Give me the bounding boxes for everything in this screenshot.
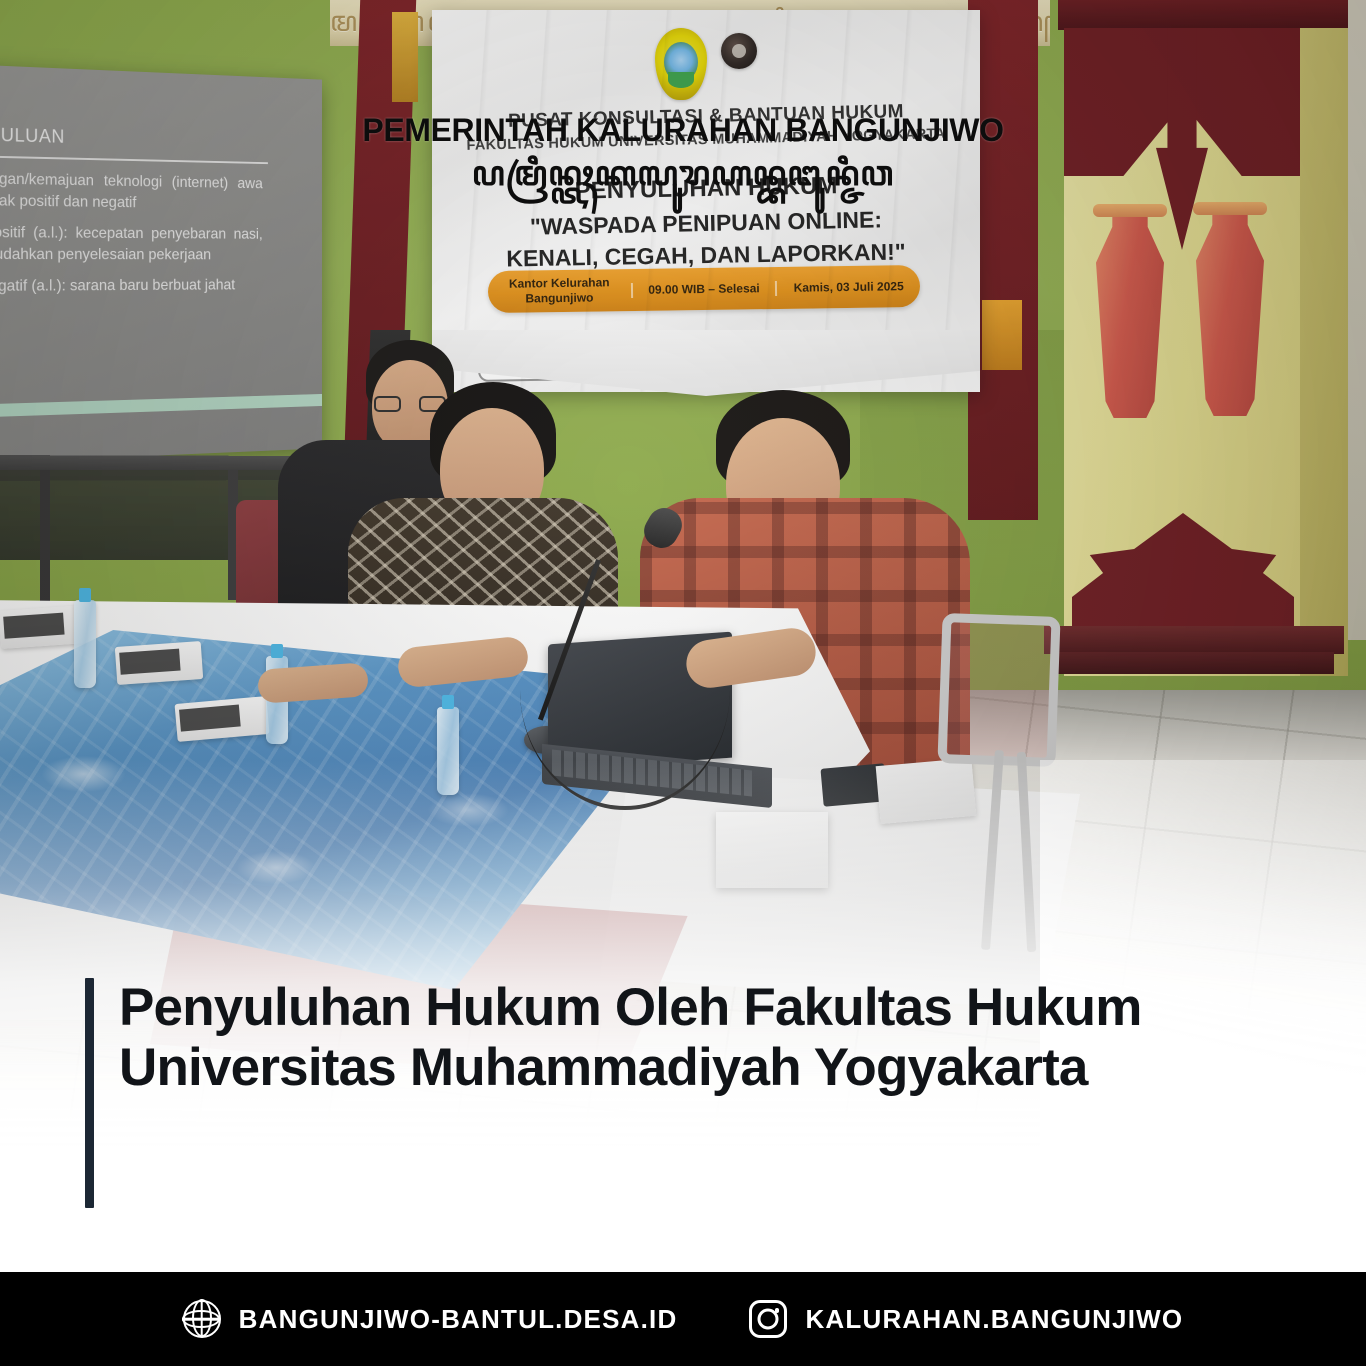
pillar-base-bottom: [1054, 652, 1334, 674]
footer-bar: BANGUNJIWO-BANTUL.DESA.ID KALURAHAN.BANG…: [0, 1272, 1366, 1366]
gold-accent-left: [392, 12, 418, 102]
umy-logo-icon: [721, 33, 757, 69]
globe-icon: [183, 1300, 221, 1338]
footer-website[interactable]: BANGUNJIWO-BANTUL.DESA.ID: [183, 1300, 678, 1338]
chair-right-backrest: [937, 613, 1060, 767]
overlay-kalurahan-text: PEMERINTAH KALURAHAN BANGUNJIWO: [0, 112, 1366, 149]
water-bottle-1: [74, 600, 96, 688]
ornamental-pillar: [1058, 0, 1348, 700]
pillar-base-top: [1044, 626, 1344, 654]
pillar-cap: [1058, 0, 1348, 30]
footer-instagram-label: KALURAHAN.BANGUNJIWO: [805, 1304, 1183, 1335]
title-accent-bar: [85, 978, 94, 1208]
slide-paragraph-3: ak negatif (a.l.): sarana baru berbuat j…: [0, 276, 263, 298]
snack-box-3: [175, 696, 270, 742]
glasses-icon: [374, 396, 446, 412]
instagram-icon: [749, 1300, 787, 1338]
banner-info-bar: Kantor Kelurahan Bangunjiwo 09.00 WIB – …: [488, 265, 921, 313]
slide-paragraph-2: ak positif (a.l.): kecepatan penyebaran …: [0, 222, 263, 265]
snack-box-2: [115, 641, 203, 685]
bantul-emblem-icon: [655, 28, 707, 100]
banner-info-time: 09.00 WIB – Selesai: [631, 281, 776, 298]
screen-leg-left: [40, 470, 50, 610]
overlay-javanese-text: ꦥꦩꦿꦶꦤ꧀ꦠꦃꦏꦭꦸꦫꦲꦤ꧀ꦧꦔꦸꦤ꧀ꦗꦶꦮ: [0, 148, 1366, 217]
slide-accent-band: [0, 394, 322, 418]
gold-accent-right: [982, 300, 1022, 370]
footer-website-label: BANGUNJIWO-BANTUL.DESA.ID: [239, 1304, 678, 1335]
banner-logos: [432, 28, 980, 100]
poster-canvas: ꦩꦤ꧀ꦝꦭꦱꦮ ꦏꦭꦸꦫꦲꦤ꧀ ꦧꦔꦸꦤ꧀ꦗꦶꦮ ꦏꦥꦤꦺꦮꦺꦴꦤ꧀ ꦏꦱꦶꦲꦤ…: [0, 0, 1366, 1366]
footer-instagram[interactable]: KALURAHAN.BANGUNJIWO: [749, 1300, 1183, 1338]
banner-info-date: Kamis, 03 Juli 2025: [775, 278, 920, 295]
title-block: Penyuluhan Hukum Oleh Fakultas Hukum Uni…: [85, 978, 1239, 1208]
page-title: Penyuluhan Hukum Oleh Fakultas Hukum Uni…: [119, 978, 1239, 1208]
banner-info-venue: Kantor Kelurahan Bangunjiwo: [488, 275, 631, 307]
